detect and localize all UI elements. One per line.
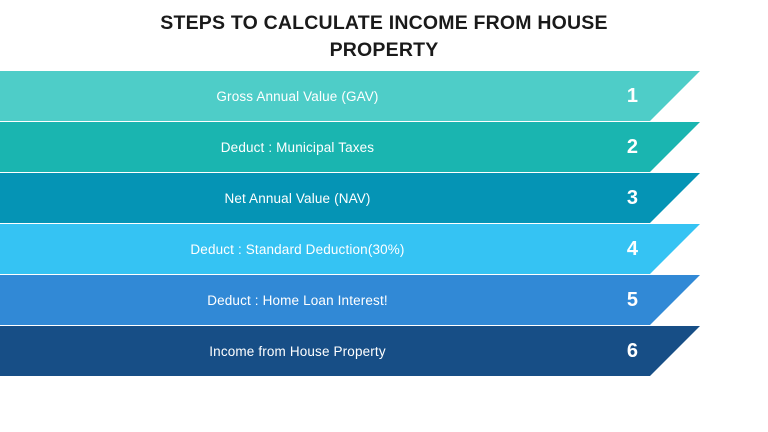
step-row[interactable]: Deduct : Standard Deduction(30%) 4 (0, 224, 700, 274)
step-row[interactable]: Deduct : Municipal Taxes 2 (0, 122, 700, 172)
step-label: Deduct : Home Loan Interest! (0, 275, 660, 325)
step-label: Income from House Property (0, 326, 660, 376)
step-number: 1 (627, 71, 638, 121)
step-number: 3 (627, 173, 638, 223)
step-row[interactable]: Income from House Property 6 (0, 326, 700, 376)
step-label: Gross Annual Value (GAV) (0, 71, 660, 121)
step-number: 6 (627, 326, 638, 376)
step-label: Deduct : Standard Deduction(30%) (0, 224, 660, 274)
step-label: Net Annual Value (NAV) (0, 173, 660, 223)
step-number: 5 (627, 275, 638, 325)
steps-funnel: Gross Annual Value (GAV) 1 Deduct : Muni… (0, 71, 768, 377)
step-row[interactable]: Deduct : Home Loan Interest! 5 (0, 275, 700, 325)
infographic-canvas: STEPS TO CALCULATE INCOME FROM HOUSE PRO… (0, 0, 768, 432)
step-row[interactable]: Gross Annual Value (GAV) 1 (0, 71, 700, 121)
step-label: Deduct : Municipal Taxes (0, 122, 660, 172)
step-number: 4 (627, 224, 638, 274)
page-title: STEPS TO CALCULATE INCOME FROM HOUSE PRO… (0, 10, 768, 64)
step-number: 2 (627, 122, 638, 172)
step-row[interactable]: Net Annual Value (NAV) 3 (0, 173, 700, 223)
